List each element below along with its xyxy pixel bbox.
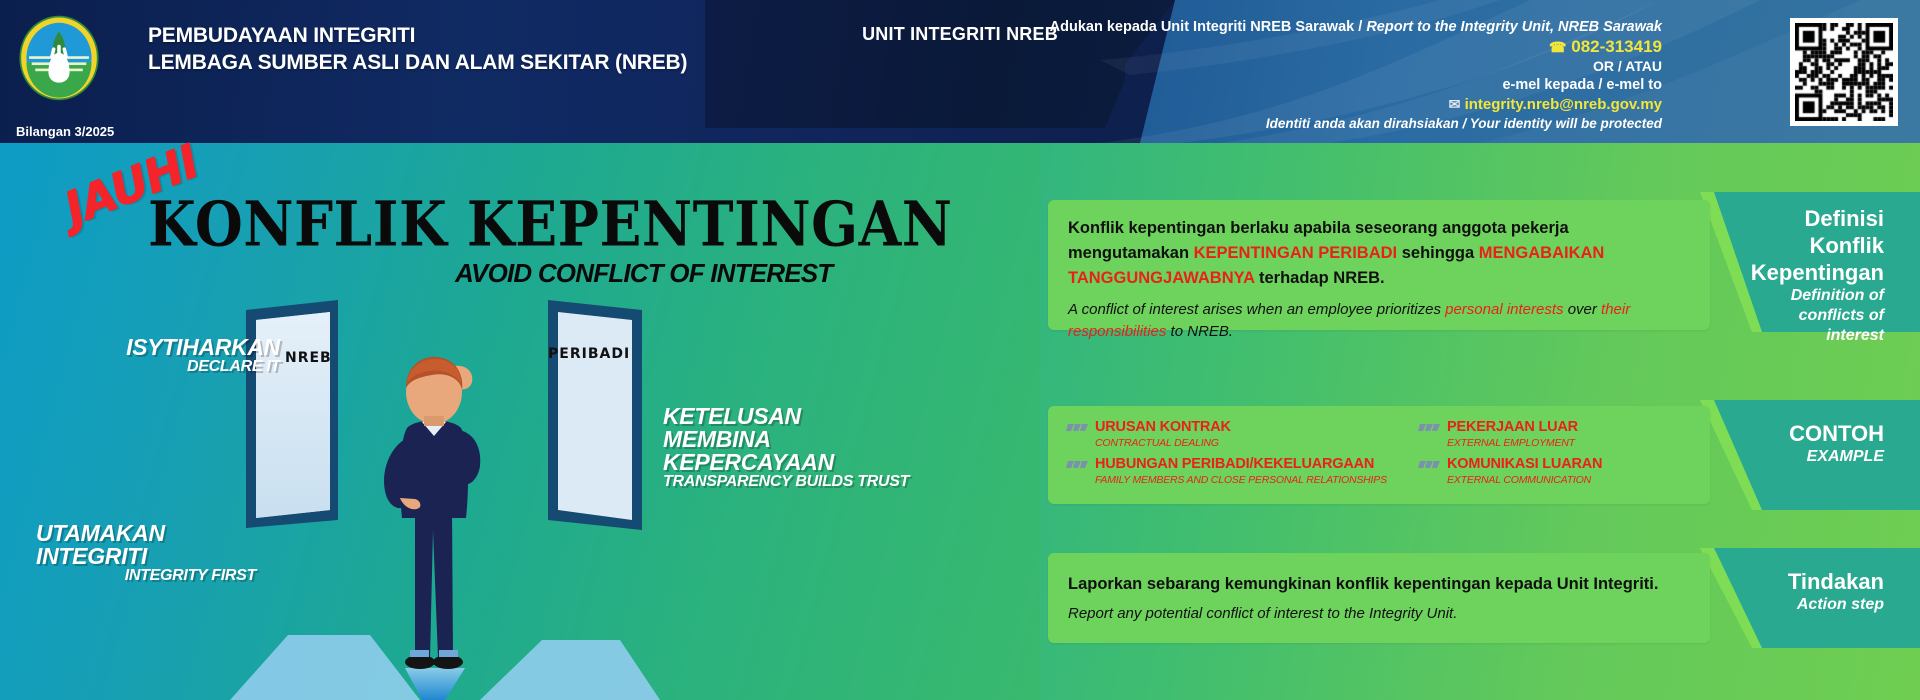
hero-title: KONFLIK KEPENTINGAN <box>148 193 953 256</box>
header-title-line1: PEMBUDAYAAN INTEGRITI <box>148 22 687 49</box>
email-line[interactable]: ✉ integrity.nreb@nreb.gov.my <box>962 95 1662 114</box>
door-right <box>548 300 642 530</box>
definition-tab-en-3: interest <box>1700 326 1884 346</box>
label-transparency-en: TRANSPARENCY BUILDS TRUST <box>663 474 913 490</box>
door-right-label: PERIBADI <box>548 346 630 362</box>
report-en: Report to the Integrity Unit, NREB Saraw… <box>1366 19 1662 35</box>
label-transparency-my-line2: KEPERCAYAAN <box>663 451 913 474</box>
definition-tab-my-2: Konflik <box>1700 232 1884 259</box>
example-item: PEKERJAAN LUAR EXTERNAL EMPLOYMENT <box>1418 418 1692 451</box>
speed-lines-icon <box>1418 459 1440 470</box>
phone-number: 082-313419 <box>1571 37 1662 56</box>
definition-my-p2: sehingga <box>1397 244 1479 262</box>
speed-lines-icon <box>1066 459 1088 470</box>
definition-my-p3: terhadap NREB. <box>1254 269 1384 287</box>
door-left-label: NREB <box>285 350 332 366</box>
example-item: KOMUNIKASI LUARAN EXTERNAL COMMUNICATION <box>1418 455 1692 488</box>
definition-en-p1: A conflict of interest arises when an em… <box>1068 301 1445 318</box>
phone-icon: ☎ <box>1549 39 1566 55</box>
definition-en-red1: personal interests <box>1445 301 1563 318</box>
report-separator: / <box>1354 19 1366 35</box>
action-en: Report any potential conflict of interes… <box>1068 605 1688 622</box>
example-subtitle: FAMILY MEMBERS AND CLOSE PERSONAL RELATI… <box>1095 473 1387 488</box>
label-declare-en: DECLARE IT <box>110 359 280 375</box>
example-tab-en: EXAMPLE <box>1700 447 1884 467</box>
definition-tab-en-2: conflicts of <box>1700 306 1884 326</box>
header-bar: PEMBUDAYAAN INTEGRITI LEMBAGA SUMBER ASL… <box>0 0 1920 143</box>
label-integrity-en: INTEGRITY FIRST <box>36 568 256 584</box>
example-subtitle: EXTERNAL EMPLOYMENT <box>1447 436 1578 451</box>
definition-panel: Konflik kepentingan berlaku apabila sese… <box>1048 200 1710 330</box>
action-tab-en: Action step <box>1700 595 1884 615</box>
qr-code[interactable] <box>1790 18 1898 126</box>
report-my: Adukan kepada Unit Integriti NREB Sarawa… <box>1050 19 1355 35</box>
envelope-icon: ✉ <box>1449 96 1461 112</box>
phone-line[interactable]: ☎ 082-313419 <box>962 37 1662 57</box>
definition-tab: Definisi Konflik Kepentingan Definition … <box>1700 205 1902 346</box>
action-my: Laporkan sebarang kemungkinan konflik ke… <box>1068 575 1688 594</box>
header-title: PEMBUDAYAAN INTEGRITI LEMBAGA SUMBER ASL… <box>148 22 687 76</box>
definition-tab-my-3: Kepentingan <box>1700 259 1884 286</box>
definition-text: Konflik kepentingan berlaku apabila sese… <box>1068 216 1688 343</box>
label-integrity-my: UTAMAKAN INTEGRITI <box>36 522 256 568</box>
example-title: KOMUNIKASI LUARAN <box>1447 455 1602 473</box>
example-title: PEKERJAAN LUAR <box>1447 418 1578 436</box>
email-address: integrity.nreb@nreb.gov.my <box>1465 96 1662 113</box>
example-title: URUSAN KONTRAK <box>1095 418 1231 436</box>
action-tab: Tindakan Action step <box>1700 568 1902 615</box>
contact-block: Adukan kepada Unit Integriti NREB Sarawa… <box>962 18 1662 133</box>
poster-root: PEMBUDAYAAN INTEGRITI LEMBAGA SUMBER ASL… <box>0 0 1920 700</box>
label-transparency: KETELUSAN MEMBINA KEPERCAYAAN TRANSPAREN… <box>663 405 913 490</box>
businessman-figure <box>384 357 480 669</box>
report-line: Adukan kepada Unit Integriti NREB Sarawa… <box>962 18 1662 37</box>
examples-panel: URUSAN KONTRAK CONTRACTUAL DEALING PEKER… <box>1048 406 1710 504</box>
example-item: URUSAN KONTRAK CONTRACTUAL DEALING <box>1066 418 1418 451</box>
doors-illustration: ? ? ? <box>230 280 660 700</box>
label-transparency-my-line1: KETELUSAN MEMBINA <box>663 405 913 451</box>
example-subtitle: EXTERNAL COMMUNICATION <box>1447 473 1602 488</box>
example-tab: CONTOH EXAMPLE <box>1700 420 1902 467</box>
definition-en-p2: over <box>1564 301 1602 318</box>
definition-tab-en-1: Definition of <box>1700 286 1884 306</box>
nreb-logo <box>15 14 103 102</box>
definition-en-p3: to NREB. <box>1166 323 1233 340</box>
example-tab-my: CONTOH <box>1700 420 1884 447</box>
label-declare-my: ISYTIHARKAN <box>110 336 280 359</box>
action-tab-my: Tindakan <box>1700 568 1884 595</box>
definition-en: A conflict of interest arises when an em… <box>1068 299 1688 343</box>
issue-number: Bilangan 3/2025 <box>16 124 114 139</box>
definition-my-red1: KEPENTINGAN PERIBADI <box>1194 244 1398 262</box>
example-item: HUBUNGAN PERIBADI/KEKELUARGAAN FAMILY ME… <box>1066 455 1418 488</box>
action-panel: Laporkan sebarang kemungkinan konflik ke… <box>1048 553 1710 643</box>
label-integrity: UTAMAKAN INTEGRITI INTEGRITY FIRST <box>36 522 256 584</box>
speed-lines-icon <box>1066 422 1088 433</box>
definition-tab-my-1: Definisi <box>1700 205 1884 232</box>
speed-lines-icon <box>1418 422 1440 433</box>
privacy-note: Identiti anda akan dirahsiakan / Your id… <box>962 114 1662 133</box>
definition-my: Konflik kepentingan berlaku apabila sese… <box>1068 216 1688 291</box>
header-title-line2: LEMBAGA SUMBER ASLI DAN ALAM SEKITAR (NR… <box>148 49 687 76</box>
examples-grid: URUSAN KONTRAK CONTRACTUAL DEALING PEKER… <box>1066 418 1692 488</box>
action-text: Laporkan sebarang kemungkinan konflik ke… <box>1068 575 1688 622</box>
example-subtitle: CONTRACTUAL DEALING <box>1095 436 1231 451</box>
or-label: OR / ATAU <box>962 57 1662 76</box>
label-declare: ISYTIHARKAN DECLARE IT <box>110 336 280 375</box>
email-label: e-mel kepada / e-mel to <box>962 76 1662 95</box>
example-title: HUBUNGAN PERIBADI/KEKELUARGAAN <box>1095 455 1387 473</box>
